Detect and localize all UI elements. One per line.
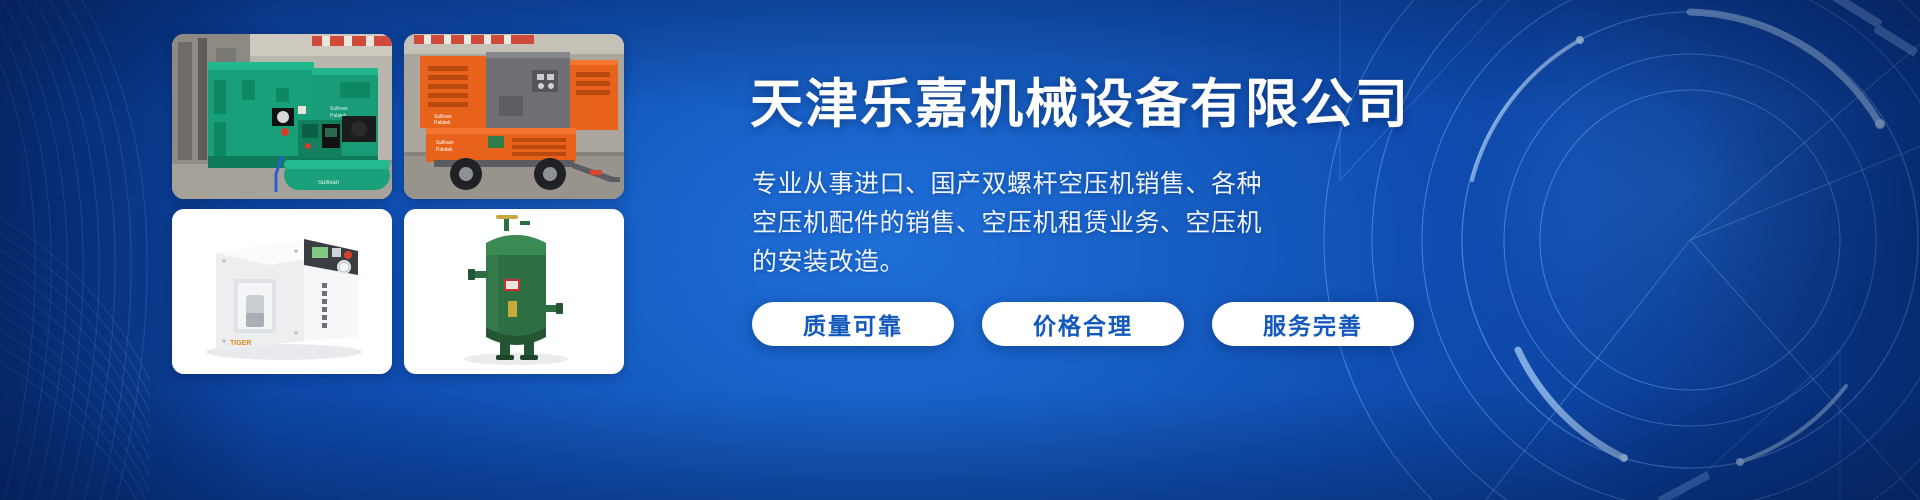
company-title: 天津乐嘉机械设备有限公司	[750, 78, 1410, 131]
product-card-orange-portable-compressor[interactable]: Sullivan Palatek	[404, 34, 624, 199]
badge-price-reasonable[interactable]: 价格合理	[982, 302, 1184, 346]
svg-text:Palatek: Palatek	[436, 147, 453, 153]
company-description: 专业从事进口、国产双螺杆空压机销售、各种 空压机配件的销售、空压机租赁业务、空压…	[752, 165, 1337, 282]
description-line-1: 专业从事进口、国产双螺杆空压机销售、各种	[752, 165, 1337, 204]
description-line-3: 的安装改造。	[752, 243, 1337, 282]
product-photo-green-stationary-compressor: Sullivan Palatek	[172, 34, 392, 199]
svg-text:Sullivan: Sullivan	[330, 106, 348, 112]
product-image-gallery: Sullivan Palatek	[172, 34, 634, 374]
feature-badge-list: 质量可靠 价格合理 服务完善	[752, 302, 1414, 346]
svg-text:TIGER: TIGER	[230, 340, 251, 347]
badge-service-complete[interactable]: 服务完善	[1212, 302, 1414, 346]
svg-text:Palatek: Palatek	[434, 120, 451, 126]
product-photo-white-cabinet-compressor: TIGER	[172, 209, 392, 374]
banner-content: 天津乐嘉机械设备有限公司 专业从事进口、国产双螺杆空压机销售、各种 空压机配件的…	[750, 0, 1750, 500]
svg-text:Sullivan: Sullivan	[436, 140, 454, 146]
product-card-green-air-tank[interactable]	[404, 209, 624, 374]
product-card-white-cabinet-compressor[interactable]: TIGER	[172, 209, 392, 374]
product-photo-orange-portable-compressor: Sullivan Palatek	[404, 34, 624, 199]
product-card-green-stationary-compressor[interactable]: Sullivan Palatek	[172, 34, 392, 199]
svg-text:Sullivan: Sullivan	[318, 180, 339, 186]
promo-banner: Sullivan Palatek	[0, 0, 1920, 500]
product-photo-green-air-tank	[404, 209, 624, 374]
description-line-2: 空压机配件的销售、空压机租赁业务、空压机	[752, 204, 1337, 243]
badge-quality-reliable[interactable]: 质量可靠	[752, 302, 954, 346]
